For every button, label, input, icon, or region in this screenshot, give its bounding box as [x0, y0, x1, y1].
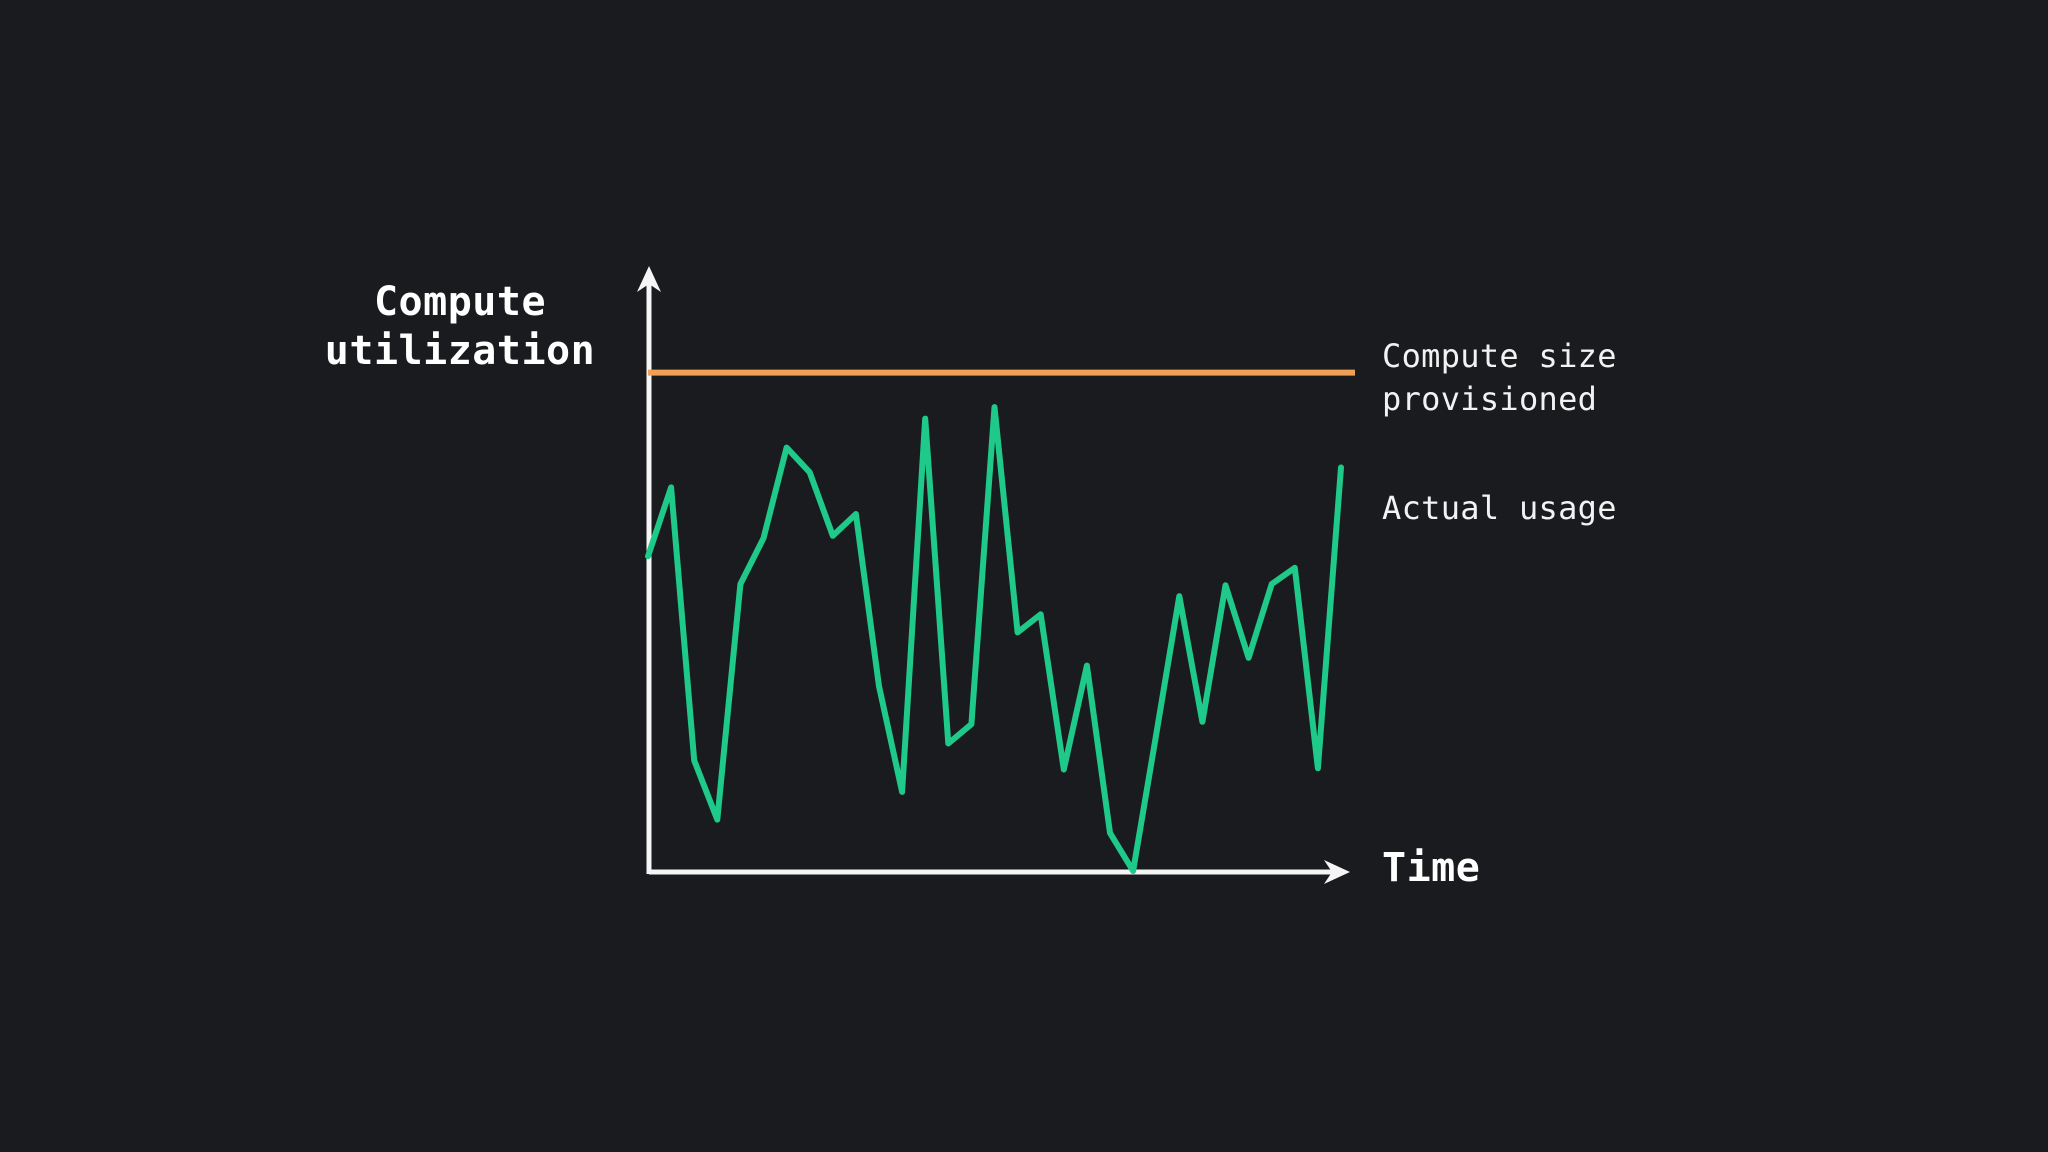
x-axis-label: Time — [1382, 845, 1480, 891]
actual-usage-line — [648, 407, 1341, 871]
chart-canvas: Compute utilization Time Compute size pr… — [0, 0, 2048, 1152]
legend-label-compute-size-provisioned: Compute size provisioned — [1382, 335, 1617, 420]
compute-utilization-chart — [0, 0, 2048, 1152]
series-group — [648, 373, 1355, 871]
legend-label-actual-usage: Actual usage — [1382, 487, 1617, 530]
y-axis-label: Compute utilization — [300, 278, 620, 376]
